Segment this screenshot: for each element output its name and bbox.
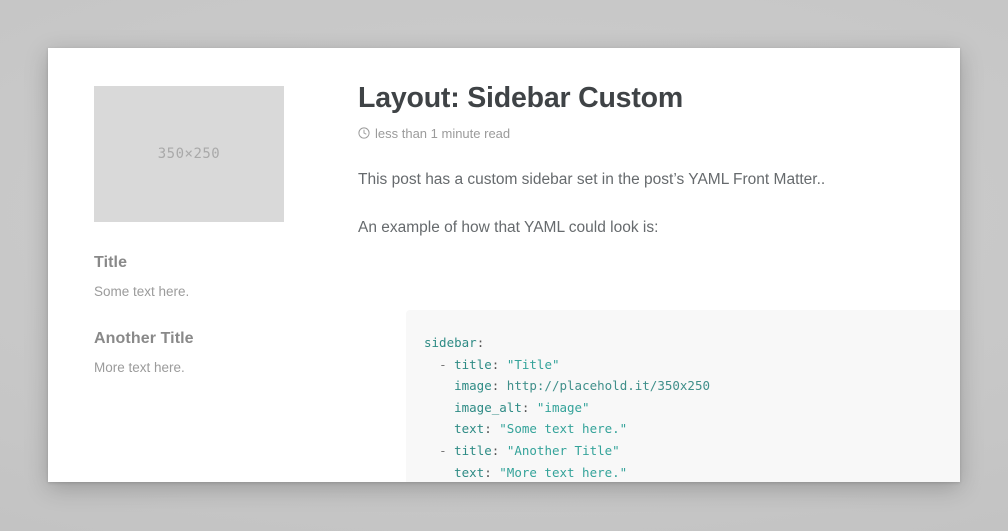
read-time-label: less than 1 minute read [375, 126, 510, 141]
sidebar-block-text: More text here. [94, 358, 294, 378]
placeholder-dimensions-label: 350×250 [158, 146, 221, 162]
yaml-code: sidebar: - title: "Title" image: http://… [424, 335, 710, 480]
yaml-code-block: sidebar: - title: "Title" image: http://… [406, 310, 960, 482]
article-body: Layout: Sidebar Custom less than 1 minut… [358, 82, 960, 482]
card-inner: 350×250 Title Some text here. Another Ti… [48, 48, 960, 482]
sidebar-block-1: Title Some text here. [94, 254, 294, 302]
article-paragraph-2: An example of how that YAML could look i… [358, 216, 960, 239]
yaml-code-content: sidebar: - title: "Title" image: http://… [406, 310, 960, 482]
read-time-meta: less than 1 minute read [358, 126, 960, 141]
custom-sidebar: 350×250 Title Some text here. Another Ti… [94, 86, 294, 379]
article-card: 350×250 Title Some text here. Another Ti… [48, 48, 960, 482]
clock-icon [358, 127, 370, 139]
article-paragraph-1: This post has a custom sidebar set in th… [358, 168, 960, 191]
sidebar-block-text: Some text here. [94, 282, 294, 302]
sidebar-block-2: Another Title More text here. [94, 330, 294, 378]
sidebar-placeholder-image: 350×250 [94, 86, 284, 222]
page-title: Layout: Sidebar Custom [358, 82, 960, 115]
sidebar-block-title: Title [94, 254, 294, 272]
sidebar-block-title: Another Title [94, 330, 294, 348]
